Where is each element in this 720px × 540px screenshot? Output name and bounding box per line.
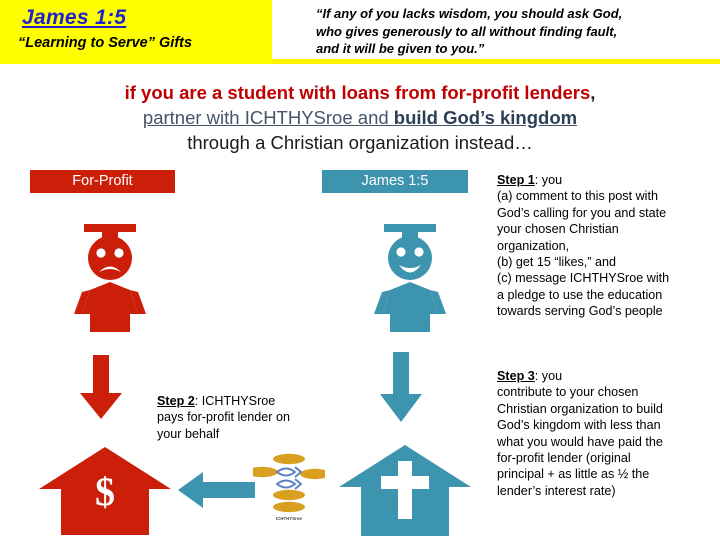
step-3-line-6: principal + as little as ½ the [497,467,649,481]
slide-canvas: James 1:5 “Learning to Serve” Gifts “If … [0,0,720,540]
fish-icon [277,467,301,477]
step-2-line-1: pays for-profit lender on [157,410,290,424]
scripture-line-1: “If any of you lacks wisdom, you should … [316,5,712,23]
chip-for-profit: For-Profit [30,170,175,193]
step-3-text-block: Step 3: you contribute to your chosen Ch… [497,368,712,499]
step-1-line-1: (a) comment to this post with [497,189,658,203]
step-1-line-3: your chosen Christian [497,222,619,236]
step-3-line-2: Christian organization to build [497,402,663,416]
step-1-text-block: Step 1: you (a) comment to this post wit… [497,172,712,320]
sad-graduate-icon [60,222,160,337]
step-2-line-0: : ICHTHYSroe [195,394,275,408]
fish-icon [277,479,301,489]
headline-line-1-comma: , [590,82,595,103]
ichthysroe-wordmark: ICHTHYSroe [259,516,319,521]
ichthysroe-loaves-and-fishes-logo [253,452,325,514]
header-band: James 1:5 “Learning to Serve” Gifts “If … [0,0,720,64]
scripture-line-2: who gives generously to all without find… [316,23,712,41]
scripture-quote: “If any of you lacks wisdom, you should … [316,5,712,58]
christian-organization-house-icon [337,443,473,538]
step-3-line-4: what you would have paid the [497,435,663,449]
teal-down-arrow-icon [378,352,424,424]
step-1-line-5: (b) get 15 “likes,” and [497,255,616,269]
headline-line-2-bold: build God’s kingdom [394,107,577,128]
step-1-line-0: : you [535,173,562,187]
red-down-arrow-icon [78,355,124,421]
step-1-line-6: (c) message ICHTHYSroe with [497,271,669,285]
happy-graduate-icon [360,222,460,337]
step-1-line-2: God’s calling for you and state [497,206,666,220]
scripture-line-3: and it will be given to you.” [316,40,712,58]
step-2-text-block: Step 2: ICHTHYSroe pays for-profit lende… [157,393,332,442]
chip-james-1-5: James 1:5 [322,170,468,193]
step-3-line-5: for-profit lender (original [497,451,631,465]
yellow-underline-rule [272,59,720,64]
headline-line-2-plain: partner with ICHTHYSroe and [143,107,394,128]
step-3-heading: Step 3 [497,369,535,383]
headline-line-3: through a Christian organization instead… [0,130,720,156]
verse-reference-title: James 1:5 [22,6,126,30]
step-3-line-1: contribute to your chosen [497,385,638,399]
step-1-line-7: a pledge to use the education [497,288,662,302]
cross-icon-vertical [398,461,412,519]
step-3-line-3: God’s kingdom with less than [497,418,661,432]
headline-line-1-text: if you are a student with loans from for… [125,82,591,103]
step-2-heading: Step 2 [157,394,195,408]
for-profit-house-icon: $ [37,445,173,537]
step-1-line-4: organization, [497,239,569,253]
teal-left-arrow-icon [177,470,255,510]
step-2-line-2: your behalf [157,427,219,441]
step-1-heading: Step 1 [497,173,535,187]
step-1-line-8: towards serving God’s people [497,304,663,318]
gift-category-label: “Learning to Serve” Gifts [18,35,192,51]
dollar-sign-icon: $ [95,469,115,514]
headline-line-1: if you are a student with loans from for… [0,80,720,105]
headline-line-2: partner with ICHTHYSroe and build God’s … [0,105,720,130]
step-3-line-7: lender’s interest rate) [497,484,616,498]
cross-icon-horizontal [381,476,429,489]
headline-block: if you are a student with loans from for… [0,80,720,156]
step-3-line-0: : you [535,369,562,383]
